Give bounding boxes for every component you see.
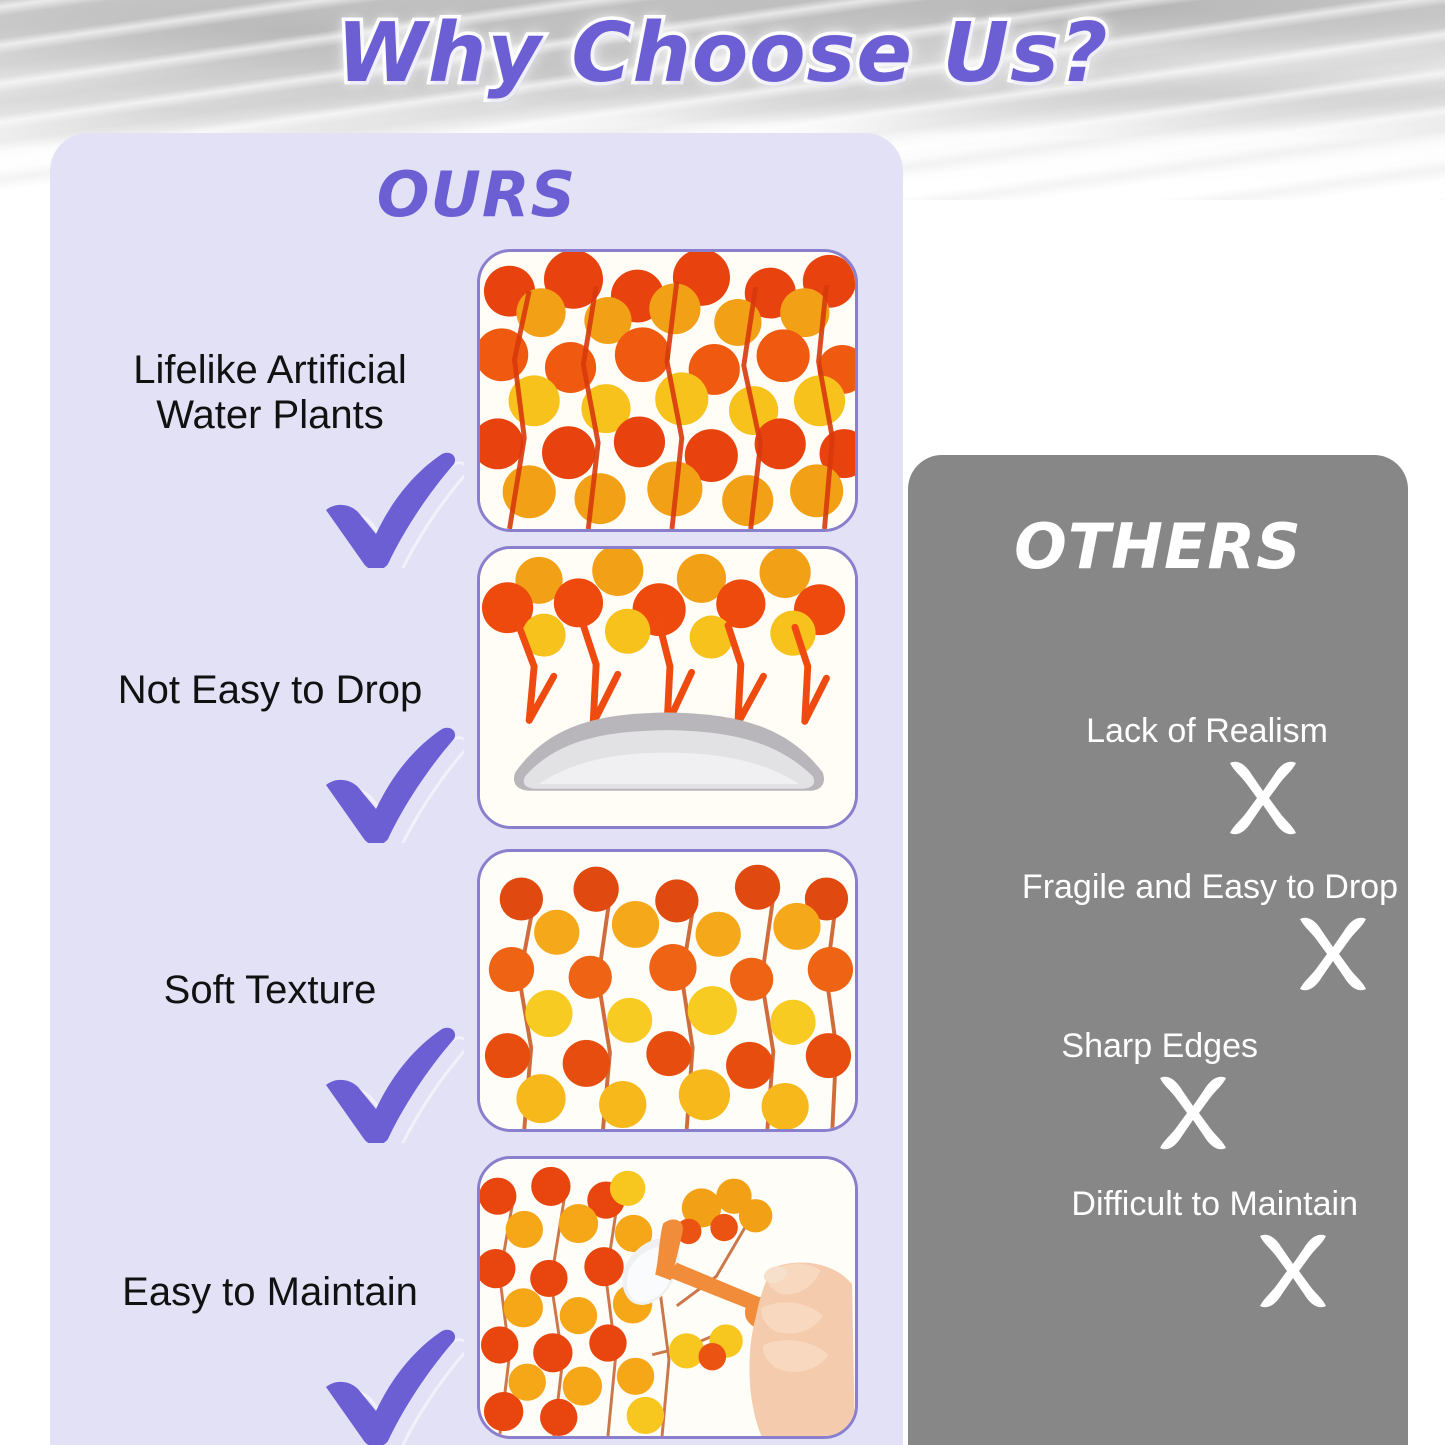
feature-row-1: Lifelike Artificial Water Plants: [70, 348, 470, 568]
product-photo-2: [477, 546, 858, 829]
check-mark-icon-4: [314, 1325, 464, 1445]
product-photo-1: [477, 249, 858, 532]
check-mark-icon-2: [314, 723, 464, 843]
check-mark-icon-3: [314, 1023, 464, 1143]
x-mark-icon-1: [1220, 755, 1306, 841]
drawback-row-2: Fragile and Easy to Drop: [908, 868, 1398, 997]
ours-heading: OURS: [50, 158, 903, 231]
x-mark-icon-3: [1150, 1070, 1236, 1156]
x-mark-icon-4: [1250, 1228, 1336, 1314]
check-mark-icon-1: [314, 448, 464, 568]
drawback-label-4: Difficult to Maintain: [1071, 1185, 1358, 1224]
feature-label-4: Easy to Maintain: [70, 1270, 470, 1315]
feature-label-1: Lifelike Artificial Water Plants: [70, 348, 470, 438]
others-heading: OTHERS: [908, 510, 1408, 583]
drawback-row-3: Sharp Edges: [908, 1027, 1258, 1156]
page-title: Why Choose Us?: [0, 6, 1445, 101]
x-mark-icon-2: [1290, 911, 1376, 997]
feature-label-2: Not Easy to Drop: [70, 668, 470, 713]
product-photo-3: [477, 849, 858, 1132]
feature-row-2: Not Easy to Drop: [70, 668, 470, 843]
product-photo-4: [477, 1156, 858, 1439]
feature-label-3: Soft Texture: [70, 968, 470, 1013]
drawback-label-2: Fragile and Easy to Drop: [1022, 868, 1398, 907]
drawback-label-1: Lack of Realism: [1086, 712, 1328, 751]
drawback-label-3: Sharp Edges: [1061, 1027, 1258, 1066]
drawback-row-1: Lack of Realism: [908, 712, 1328, 841]
feature-row-4: Easy to Maintain: [70, 1270, 470, 1445]
feature-row-3: Soft Texture: [70, 968, 470, 1143]
drawback-row-4: Difficult to Maintain: [908, 1185, 1358, 1314]
